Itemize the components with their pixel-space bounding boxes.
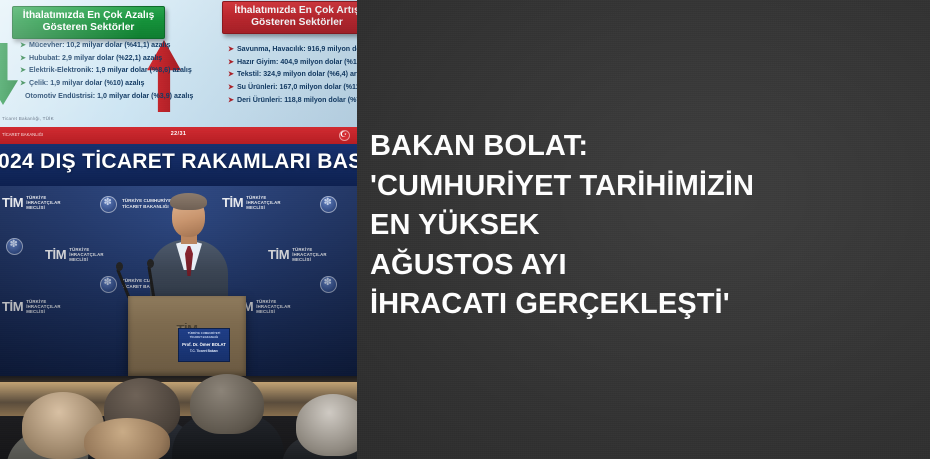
audience-head	[296, 394, 357, 456]
bullet-arrow-icon: ➤	[228, 45, 234, 53]
speaker-figure	[150, 196, 228, 308]
tim-logo: TİMTÜRKİYEİHRACATÇILARMECLİSİ	[2, 298, 61, 316]
decrease-sector-list: ➤Mücevher: 10,2 milyar dolar (%41,1) aza…	[20, 42, 193, 105]
bullet-arrow-icon: ➤	[228, 96, 234, 104]
headline-line-5: İHRACATI GERÇEKLEŞTİ'	[370, 285, 916, 325]
nameplate-title: T.C. Ticaret Bakanı	[179, 349, 229, 353]
bullet-arrow-icon	[20, 92, 22, 100]
microphone-head-icon	[116, 262, 123, 271]
ministry-seal-icon	[320, 196, 337, 213]
bullet-arrow-icon: ➤	[20, 79, 26, 87]
tim-logo: TİMTÜRKİYEİHRACATÇILARMECLİSİ	[268, 246, 327, 264]
bullet-arrow-icon: ➤	[228, 70, 234, 78]
presentation-slide: İthalatımızda En Çok Azalış Gösteren Sek…	[0, 0, 357, 131]
increase-sector-list: ➤Savunma, Havacılık: 916,9 milyon dolar …	[228, 46, 357, 109]
headline-line-1: BAKAN BOLAT:	[370, 127, 916, 167]
slide-footer-ribbon: TİCARET BAKANLIĞI 22/31	[0, 127, 357, 144]
event-banner-title: 2024 DIŞ TİCARET RAKAMLARI BASIN	[0, 150, 357, 174]
bullet-arrow-icon: ➤	[20, 54, 26, 62]
list-item: ➤Tekstil: 324,9 milyon dolar (%6,4) artı…	[228, 71, 357, 78]
audience-head	[190, 374, 264, 434]
headline-line-4: AĞUSTOS AYI	[370, 246, 916, 286]
bullet-arrow-icon: ➤	[228, 83, 234, 91]
list-item: ➤Deri Ürünleri: 118,8 milyon dolar (%7,	[228, 97, 357, 104]
list-item: ➤Hububat: 2,9 milyar dolar (%22,1) azalı…	[20, 55, 193, 62]
slide-increase-header: İthalatımızda En Çok Artış Gösteren Sekt…	[222, 1, 357, 34]
tim-logo-sub: TÜRKİYEİHRACATÇILARMECLİSİ	[292, 247, 327, 263]
bullet-arrow-icon: ➤	[228, 58, 234, 66]
page-title: BAKAN BOLAT: 'CUMHURİYET TARİHİMİZİN EN …	[370, 127, 916, 325]
tim-logo-sub: TÜRKİYEİHRACATÇILARMECLİSİ	[26, 299, 61, 315]
bullet-arrow-icon: ➤	[20, 66, 26, 74]
decrease-title-line1: İthalatımızda En Çok Azalış	[23, 10, 155, 21]
news-image: İthalatımızda En Çok Azalış Gösteren Sek…	[0, 0, 930, 459]
tim-logo-mark: TİM	[45, 247, 66, 262]
ministry-seal-icon	[100, 196, 117, 213]
tim-logo-sub: TÜRKİYEİHRACATÇILARMECLİSİ	[246, 195, 281, 211]
headline-panel: BAKAN BOLAT: 'CUMHURİYET TARİHİMİZİN EN …	[357, 0, 930, 459]
event-banner: 2024 DIŞ TİCARET RAKAMLARI BASIN	[0, 144, 357, 186]
tim-logo-sub: TÜRKİYEİHRACATÇILARMECLİSİ	[69, 247, 104, 263]
slide-source-note: Ticaret Bakanlığı, TÜİK	[2, 116, 54, 121]
decrease-title-line2: Gösteren Sektörler	[43, 22, 135, 33]
tim-logo-sub: TÜRKİYEİHRACATÇILARMECLİSİ	[256, 299, 291, 315]
tim-logo-mark: TİM	[2, 195, 23, 210]
nameplate-name: Prof. Dr. Ömer BOLAT	[179, 342, 229, 347]
list-item: ➤Su Ürünleri: 167,0 milyon dolar (%11,	[228, 84, 357, 91]
headline-line-3: EN YÜKSEK	[370, 206, 916, 246]
nameplate-screen: TÜRKİYE CUMHURİYETİTİCARET BAKANLIĞI Pro…	[178, 328, 230, 362]
tim-logo-sub: TÜRKİYEİHRACATÇILARMECLİSİ	[26, 195, 61, 211]
tim-logo-mark: TİM	[2, 299, 23, 314]
list-item: ➤Savunma, Havacılık: 916,9 milyon dolar	[228, 46, 357, 53]
ministry-seal-icon	[6, 238, 23, 255]
tim-logo: TİMTÜRKİYEİHRACATÇILARMECLİSİ	[2, 194, 61, 212]
slide-decrease-header: İthalatımızda En Çok Azalış Gösteren Sek…	[12, 6, 165, 39]
increase-title-line1: İthalatımızda En Çok Artış	[234, 5, 357, 16]
down-arrow-icon	[0, 43, 18, 105]
bullet-arrow-icon: ➤	[20, 41, 26, 49]
list-item: Otomotiv Endüstrisi: 1,0 milyar dolar (%…	[20, 93, 193, 100]
press-conference-photo: İthalatımızda En Çok Azalış Gösteren Sek…	[0, 0, 357, 459]
microphone-head-icon	[147, 259, 154, 268]
slide-page-indicator: 22/31	[0, 131, 357, 137]
tim-logo: TİMTÜRKİYEİHRACATÇILARMECLİSİ	[45, 246, 104, 264]
tim-logo: TİMTÜRKİYEİHRACATÇILARMECLİSİ	[222, 194, 281, 212]
increase-title-line2: Gösteren Sektörler	[251, 17, 343, 28]
turkish-flag-icon	[339, 130, 350, 141]
list-item: ➤Çelik: 1,9 milyar dolar (%10) azalış	[20, 80, 193, 87]
ministry-seal-icon	[100, 276, 117, 293]
ministry-seal-icon	[320, 276, 337, 293]
audience-head	[84, 418, 170, 459]
speaker-hair	[170, 193, 207, 210]
list-item: ➤Elektrik-Elektronik: 1,9 milyar dolar (…	[20, 67, 193, 74]
list-item: ➤Mücevher: 10,2 milyar dolar (%41,1) aza…	[20, 42, 193, 49]
tim-logo-mark: TİM	[268, 247, 289, 262]
list-item: ➤Hazır Giyim: 404,9 milyon dolar (%18,	[228, 59, 357, 66]
headline-line-2: 'CUMHURİYET TARİHİMİZİN	[370, 167, 916, 207]
nameplate-ministry: TÜRKİYE CUMHURİYETİTİCARET BAKANLIĞI	[179, 332, 229, 339]
